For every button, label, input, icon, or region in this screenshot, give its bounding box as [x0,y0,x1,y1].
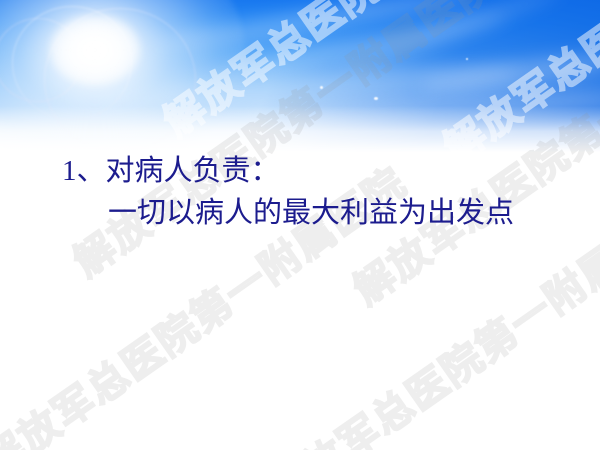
sparkle-icon [466,58,468,60]
sparkle-icon [320,86,323,89]
sun-core-icon [50,15,140,85]
body-line-1: 1、对病人负责： [62,150,562,192]
body-line-2: 一切以病人的最大利益为出发点 [62,192,562,234]
presentation-slide: 解放军总医院第一附属医院 解放军总医院第一附属医院 解放军总医院第一附属医院 解… [0,0,600,450]
blue-sky-banner: 解放军总医院第一附属医院 解放军总医院第一附属医院 [0,0,600,152]
slide-body-text: 1、对病人负责： 一切以病人的最大利益为出发点 [62,150,562,234]
sparkle-icon [374,97,378,100]
